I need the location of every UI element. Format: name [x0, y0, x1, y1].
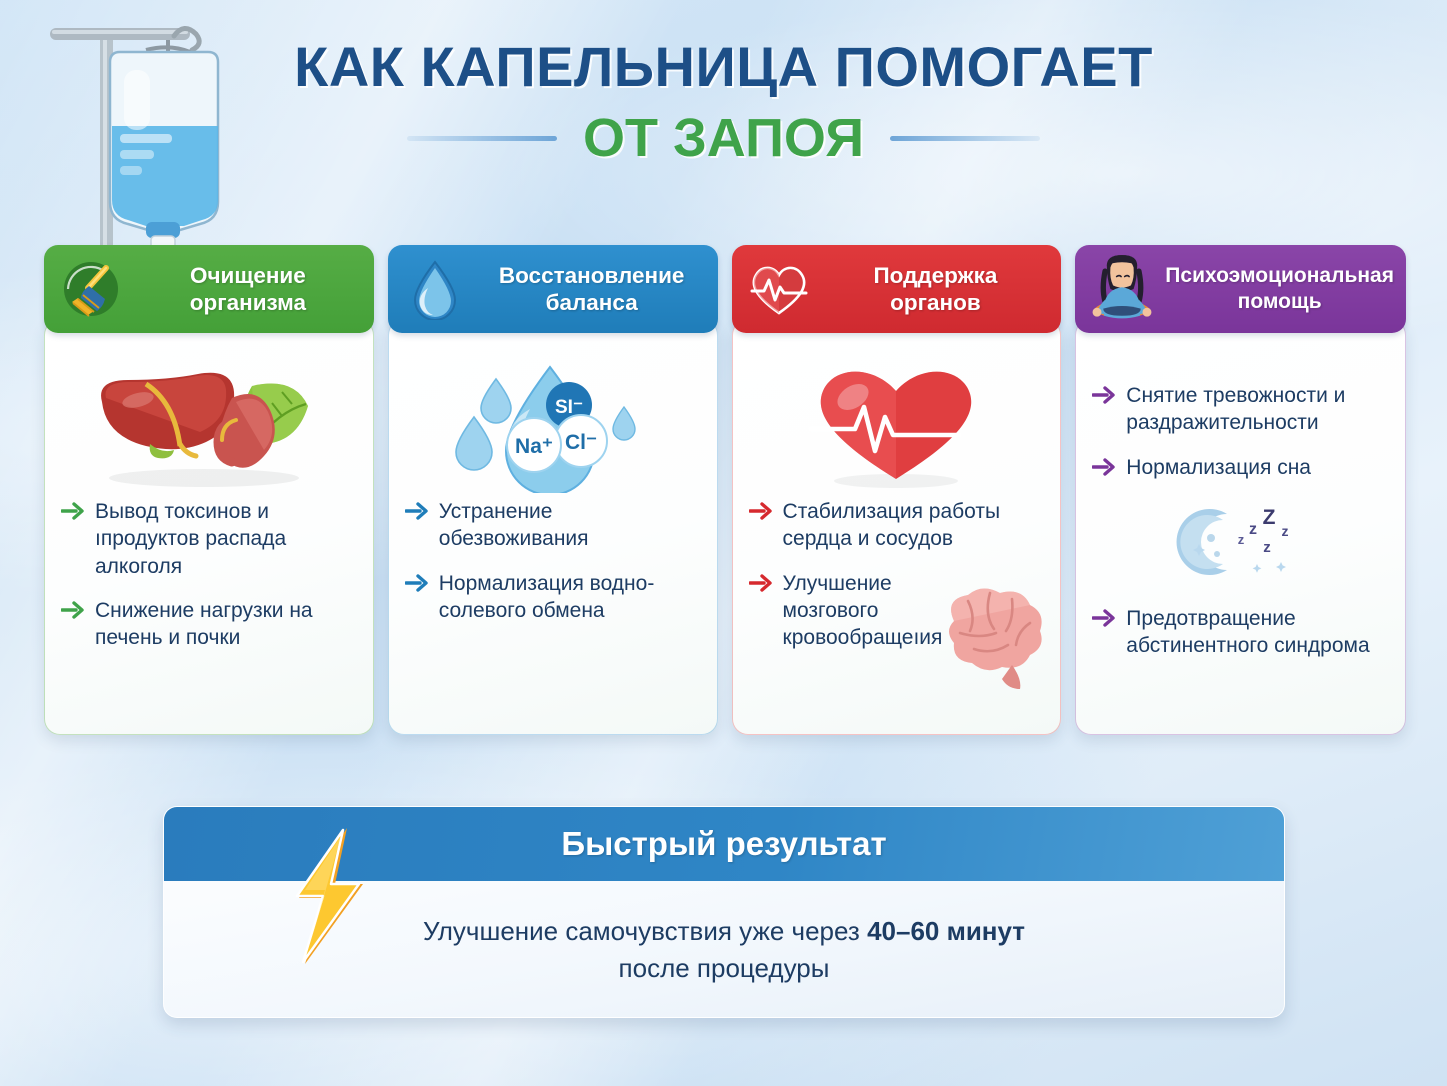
- card-psycho-bullets: Снятие тревожности и раздражительности Н…: [1092, 382, 1389, 659]
- card-psycho-title-line1: Психоэмоциональная: [1165, 263, 1394, 289]
- arrow-right-icon: [1092, 458, 1116, 481]
- svg-text:Na⁺: Na⁺: [515, 435, 553, 458]
- list-item-label: Нормализация сна: [1126, 454, 1311, 481]
- title-line-2: ОТ ЗАПОЯ: [583, 107, 864, 169]
- svg-text:z: z: [1263, 539, 1271, 556]
- list-item-label: Нормализация водно-солевого обмена: [439, 570, 701, 625]
- list-item: Снижение нагрузки на печень и почки: [61, 597, 357, 652]
- svg-text:z: z: [1249, 521, 1257, 538]
- arrow-right-icon: [749, 574, 773, 597]
- brain-illustration: [924, 581, 1054, 698]
- title-line-1: КАК КАПЕЛЬНИЦА ПОМОГАЕТ: [0, 34, 1447, 99]
- list-item-label: Снижение нагрузки на печень и почки: [95, 597, 357, 652]
- broom-icon: [58, 256, 124, 322]
- card-balance-title-line1: Восстановление: [478, 262, 706, 289]
- arrow-right-icon: [405, 502, 429, 525]
- liver-kidney-leaf-illustration: [61, 354, 357, 492]
- title-rule-left: [407, 136, 557, 141]
- page-title: КАК КАПЕЛЬНИЦА ПОМОГАЕТ ОТ ЗАПОЯ: [0, 34, 1447, 169]
- card-cleansing-title-line1: Очищение: [134, 262, 362, 289]
- list-item: Нормализация водно-солевого обмена: [405, 570, 701, 625]
- list-item: Нормализация сна: [1092, 454, 1389, 481]
- card-cleansing-body: Вывод токсинов и ıпродуктов распада алко…: [44, 319, 374, 735]
- list-item-label: Снятие тревожности и раздражительности: [1126, 382, 1389, 437]
- water-drop-icon: [402, 256, 468, 322]
- card-cleansing-title-line2: организма: [134, 289, 362, 316]
- fast-result-title: Быстрый результат: [561, 825, 886, 863]
- heart-ecg-illustration: [749, 354, 1045, 492]
- card-organs-header: Поддержка органов: [732, 245, 1062, 333]
- card-organs-title-line2: органов: [822, 289, 1050, 316]
- heart-pulse-icon: [746, 256, 812, 322]
- arrow-right-icon: [1092, 386, 1116, 409]
- card-organs-title: Поддержка органов: [822, 262, 1050, 317]
- list-item: Предотвращение абстинентного синдрома: [1092, 605, 1389, 660]
- card-psycho-body: Снятие тревожности и раздражительности Н…: [1075, 319, 1406, 735]
- card-psycho-title: Психоэмоциональная помощь: [1165, 263, 1394, 314]
- electrolyte-droplets-illustration: SI⁻ Cl⁻ Na⁺: [405, 354, 701, 492]
- card-cleansing-bullets: Вывод токсинов и ıпродуктов распада алко…: [61, 498, 357, 651]
- list-item-label: Стабилизация работы сердца и сосудов: [783, 498, 1045, 553]
- card-organs-title-line1: Поддержка: [822, 262, 1050, 289]
- svg-text:z: z: [1281, 523, 1288, 539]
- card-cleansing-title: Очищение организма: [134, 262, 362, 317]
- svg-text:Cl⁻: Cl⁻: [565, 431, 597, 454]
- card-cleansing[interactable]: Очищение организма: [44, 245, 374, 735]
- card-balance-body: SI⁻ Cl⁻ Na⁺ Устранение обезвоживания: [388, 319, 718, 735]
- list-item: Устранение обезвоживания: [405, 498, 701, 553]
- list-item-label: Предотвращение абстинентного синдрома: [1126, 605, 1389, 660]
- fast-result-text-before: Улучшение самочувствия уже через: [423, 916, 867, 946]
- list-item-label: Улучшение мозгового кровообращеıия: [783, 570, 933, 652]
- list-item-label: Устранение обезвоживания: [439, 498, 701, 553]
- benefit-cards: Очищение организма: [44, 245, 1406, 735]
- arrow-right-icon: [61, 601, 85, 624]
- arrow-right-icon: [61, 502, 85, 525]
- arrow-right-icon: [749, 502, 773, 525]
- svg-text:Z: Z: [1262, 506, 1275, 529]
- card-psycho-header: Психоэмоциональная помощь: [1075, 245, 1406, 333]
- list-item: Снятие тревожности и раздражительности: [1092, 382, 1389, 437]
- svg-text:z: z: [1237, 532, 1244, 547]
- list-item-label: Вывод токсинов и ıпродуктов распада алко…: [95, 498, 357, 580]
- card-balance-title: Восстановление баланса: [478, 262, 706, 317]
- fast-result-highlight: 40–60 минут: [867, 916, 1025, 946]
- sleeping-moon-icon: Z z z z z: [1092, 500, 1389, 582]
- list-item: Вывод токсинов и ıпродуктов распада алко…: [61, 498, 357, 580]
- card-organs[interactable]: Поддержка органов: [732, 245, 1062, 735]
- list-item: Стабилизация работы сердца и сосудов: [749, 498, 1045, 553]
- meditating-woman-icon: [1089, 256, 1155, 322]
- arrow-right-icon: [1092, 609, 1116, 632]
- arrow-right-icon: [405, 574, 429, 597]
- title-rule-right: [890, 136, 1040, 141]
- card-psycho-title-line2: помощь: [1165, 289, 1394, 315]
- card-psycho[interactable]: Психоэмоциональная помощь Снятие тревожн…: [1075, 245, 1406, 735]
- lightning-bolt-icon: [285, 824, 381, 973]
- card-balance-title-line2: баланса: [478, 289, 706, 316]
- card-balance[interactable]: Восстановление баланса: [388, 245, 718, 735]
- card-cleansing-header: Очищение организма: [44, 245, 374, 333]
- card-balance-bullets: Устранение обезвоживания Нормализация во…: [405, 498, 701, 624]
- card-balance-header: Восстановление баланса: [388, 245, 718, 333]
- card-organs-body: Стабилизация работы сердца и сосудов Улу…: [732, 319, 1062, 735]
